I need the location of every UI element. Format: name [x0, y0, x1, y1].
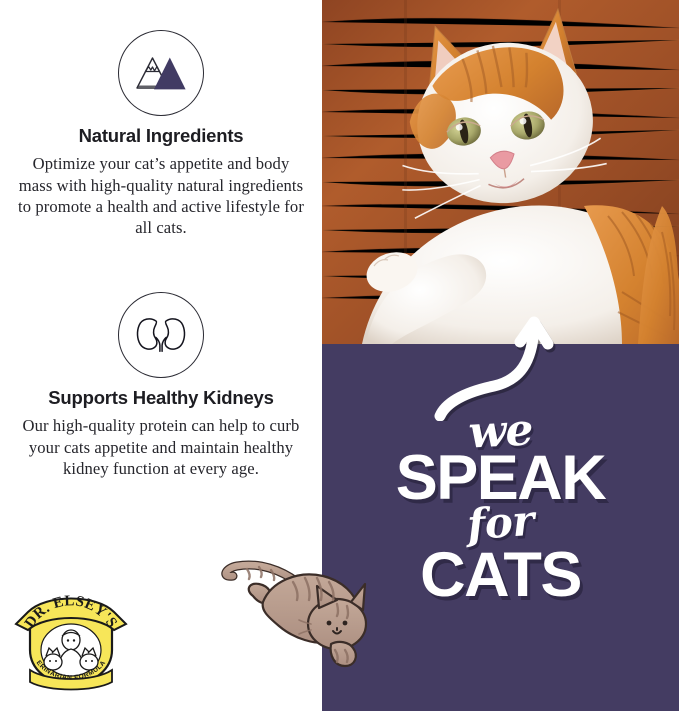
- feature-title: Supports Healthy Kidneys: [0, 388, 322, 408]
- feature-supports-healthy-kidneys: Supports Healthy Kidneys Our high-qualit…: [0, 292, 322, 479]
- dr-elseys-logo: DR. ELSEY'S VETERINARIAN FORMULATED: [8, 578, 134, 704]
- mountains-icon: [118, 30, 204, 116]
- feature-description: Optimize your cat’s appetite and body ma…: [17, 153, 305, 238]
- promo-canvas: Natural Ingredients Optimize your cat’s …: [0, 0, 679, 711]
- cat-photo: [322, 0, 679, 344]
- features-column: Natural Ingredients Optimize your cat’s …: [0, 0, 322, 711]
- kidneys-icon: [118, 292, 204, 378]
- feature-description: Our high-quality protein can help to cur…: [17, 415, 305, 479]
- feature-natural-ingredients: Natural Ingredients Optimize your cat’s …: [0, 30, 322, 238]
- hero-panel: [322, 344, 679, 711]
- feature-title: Natural Ingredients: [0, 126, 322, 146]
